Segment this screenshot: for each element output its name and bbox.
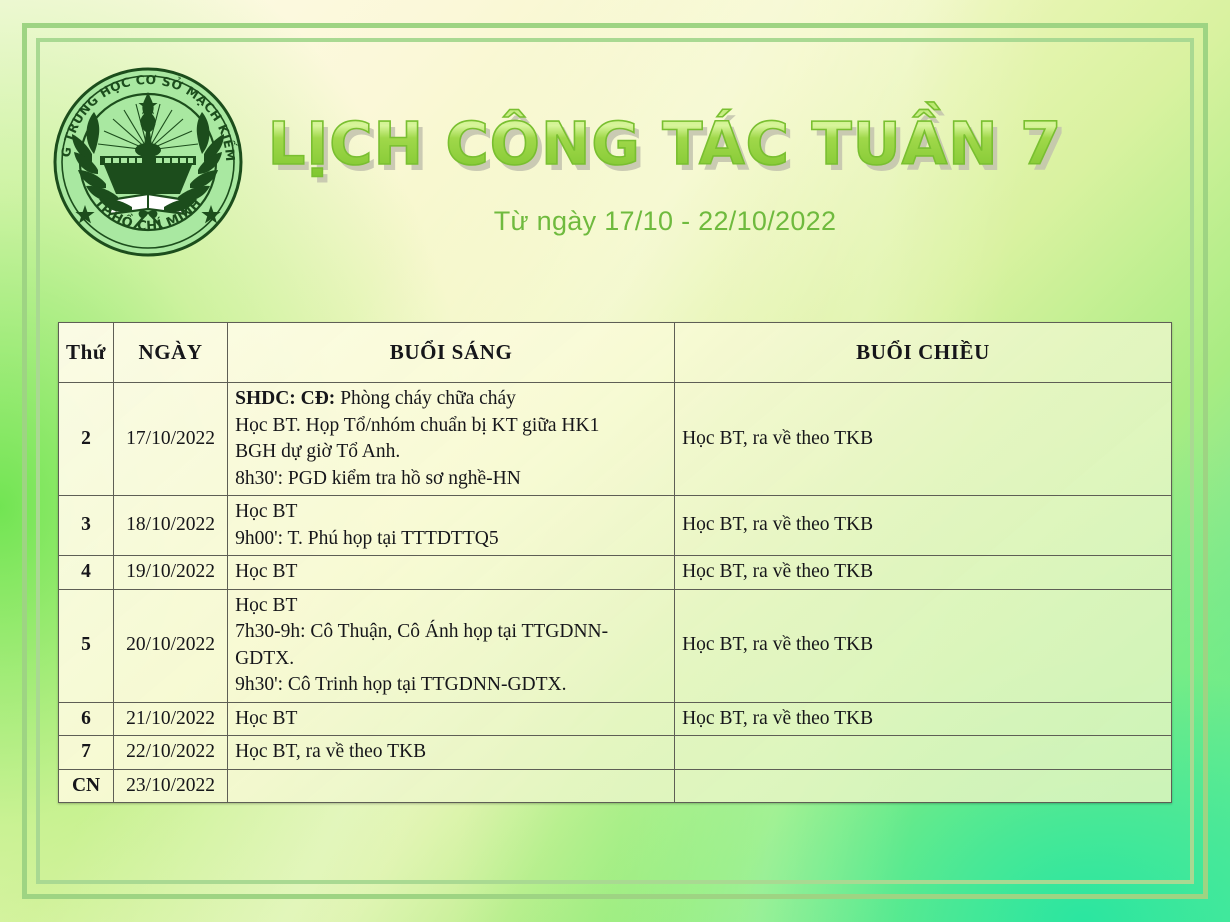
- cell-line: Học BT, ra về theo TKB: [682, 559, 1164, 586]
- cell-line: Học BT, ra về theo TKB: [682, 706, 1164, 733]
- cell-line: 9h00': T. Phú họp tại TTTDTTQ5: [235, 526, 667, 553]
- cell-line: Học BT: [235, 593, 667, 620]
- schedule-table-wrapper: Thứ NGÀY BUỔI SÁNG BUỔI CHIỀU 217/10/202…: [58, 322, 1172, 803]
- cell-line: Học BT: [235, 559, 667, 586]
- cell-line: Học BT, ra về theo TKB: [682, 512, 1164, 539]
- cell-thu: 7: [59, 736, 114, 770]
- slide-canvas: TRƯỜNG TRUNG HỌC CƠ SỞ MẠCH KIẾM HÙNG TP…: [0, 0, 1230, 922]
- cell-buoi-sang: Học BT9h00': T. Phú họp tại TTTDTTQ5: [228, 496, 675, 556]
- table-body: 217/10/2022SHDC: CĐ: Phòng cháy chữa chá…: [59, 383, 1172, 803]
- table-row: 520/10/2022Học BT7h30-9h: Cô Thuận, Cô Á…: [59, 589, 1172, 702]
- cell-line: Học BT, ra về theo TKB: [235, 739, 667, 766]
- school-emblem-logo: TRƯỜNG TRUNG HỌC CƠ SỞ MẠCH KIẾM HÙNG TP…: [48, 62, 248, 262]
- cell-buoi-sang: SHDC: CĐ: Phòng cháy chữa cháyHọc BT. Họ…: [228, 383, 675, 496]
- page-subtitle: Từ ngày 17/10 - 22/10/2022: [250, 206, 1080, 237]
- cell-line: BGH dự giờ Tổ Anh.: [235, 439, 667, 466]
- cell-line: Học BT. Họp Tổ/nhóm chuẩn bị KT giữa HK1: [235, 413, 667, 440]
- cell-line: Học BT, ra về theo TKB: [682, 632, 1164, 659]
- table-head: Thứ NGÀY BUỔI SÁNG BUỔI CHIỀU: [59, 323, 1172, 383]
- cell-buoi-chieu: Học BT, ra về theo TKB: [675, 496, 1172, 556]
- table-row: CN23/10/2022: [59, 769, 1172, 803]
- title-block: LỊCH CÔNG TÁC TUẦN 7 LỊCH CÔNG TÁC TUẦN …: [250, 98, 1080, 237]
- cell-line: Học BT, ra về theo TKB: [682, 426, 1164, 453]
- table-row: 217/10/2022SHDC: CĐ: Phòng cháy chữa chá…: [59, 383, 1172, 496]
- table-row: 722/10/2022Học BT, ra về theo TKB: [59, 736, 1172, 770]
- cell-thu: 2: [59, 383, 114, 496]
- cell-thu: 3: [59, 496, 114, 556]
- column-header-ngay: NGÀY: [114, 323, 228, 383]
- cell-ngay: 17/10/2022: [114, 383, 228, 496]
- cell-thu: 6: [59, 702, 114, 736]
- column-header-thu: Thứ: [59, 323, 114, 383]
- cell-buoi-sang: Học BT: [228, 556, 675, 590]
- table-header-row: Thứ NGÀY BUỔI SÁNG BUỔI CHIỀU: [59, 323, 1172, 383]
- cell-ngay: 19/10/2022: [114, 556, 228, 590]
- cell-line: 7h30-9h: Cô Thuận, Cô Ánh họp tại TTGDNN…: [235, 619, 667, 646]
- cell-thu: 5: [59, 589, 114, 702]
- cell-ngay: 21/10/2022: [114, 702, 228, 736]
- cell-line: Học BT: [235, 706, 667, 733]
- cell-buoi-chieu: [675, 769, 1172, 803]
- cell-ngay: 22/10/2022: [114, 736, 228, 770]
- column-header-chieu: BUỔI CHIỀU: [675, 323, 1172, 383]
- cell-ngay: 18/10/2022: [114, 496, 228, 556]
- weekly-schedule-table: Thứ NGÀY BUỔI SÁNG BUỔI CHIỀU 217/10/202…: [58, 322, 1172, 803]
- cell-thu: 4: [59, 556, 114, 590]
- cell-line-emphasis: SHDC: CĐ:: [235, 388, 335, 409]
- cell-buoi-sang: Học BT: [228, 702, 675, 736]
- table-row: 419/10/2022Học BTHọc BT, ra về theo TKB: [59, 556, 1172, 590]
- cell-buoi-chieu: Học BT, ra về theo TKB: [675, 383, 1172, 496]
- cell-buoi-chieu: Học BT, ra về theo TKB: [675, 556, 1172, 590]
- cell-buoi-sang: Học BT7h30-9h: Cô Thuận, Cô Ánh họp tại …: [228, 589, 675, 702]
- cell-line: Học BT: [235, 499, 667, 526]
- svg-text:LỊCH CÔNG TÁC TUẦN 7: LỊCH CÔNG TÁC TUẦN 7: [268, 101, 1063, 178]
- cell-buoi-chieu: Học BT, ra về theo TKB: [675, 589, 1172, 702]
- cell-ngay: 23/10/2022: [114, 769, 228, 803]
- column-header-sang: BUỔI SÁNG: [228, 323, 675, 383]
- cell-ngay: 20/10/2022: [114, 589, 228, 702]
- cell-line: 8h30': PGD kiểm tra hồ sơ nghề-HN: [235, 466, 667, 493]
- cell-buoi-chieu: Học BT, ra về theo TKB: [675, 702, 1172, 736]
- cell-line: 9h30': Cô Trinh họp tại TTGDNN-GDTX.: [235, 672, 667, 699]
- cell-buoi-chieu: [675, 736, 1172, 770]
- cell-line: GDTX.: [235, 646, 667, 673]
- cell-buoi-sang: Học BT, ra về theo TKB: [228, 736, 675, 770]
- cell-buoi-sang: [228, 769, 675, 803]
- table-row: 318/10/2022Học BT9h00': T. Phú họp tại T…: [59, 496, 1172, 556]
- table-row: 621/10/2022Học BTHọc BT, ra về theo TKB: [59, 702, 1172, 736]
- page-title: LỊCH CÔNG TÁC TUẦN 7 LỊCH CÔNG TÁC TUẦN …: [250, 98, 1080, 184]
- cell-thu: CN: [59, 769, 114, 803]
- cell-line: SHDC: CĐ: Phòng cháy chữa cháy: [235, 386, 667, 413]
